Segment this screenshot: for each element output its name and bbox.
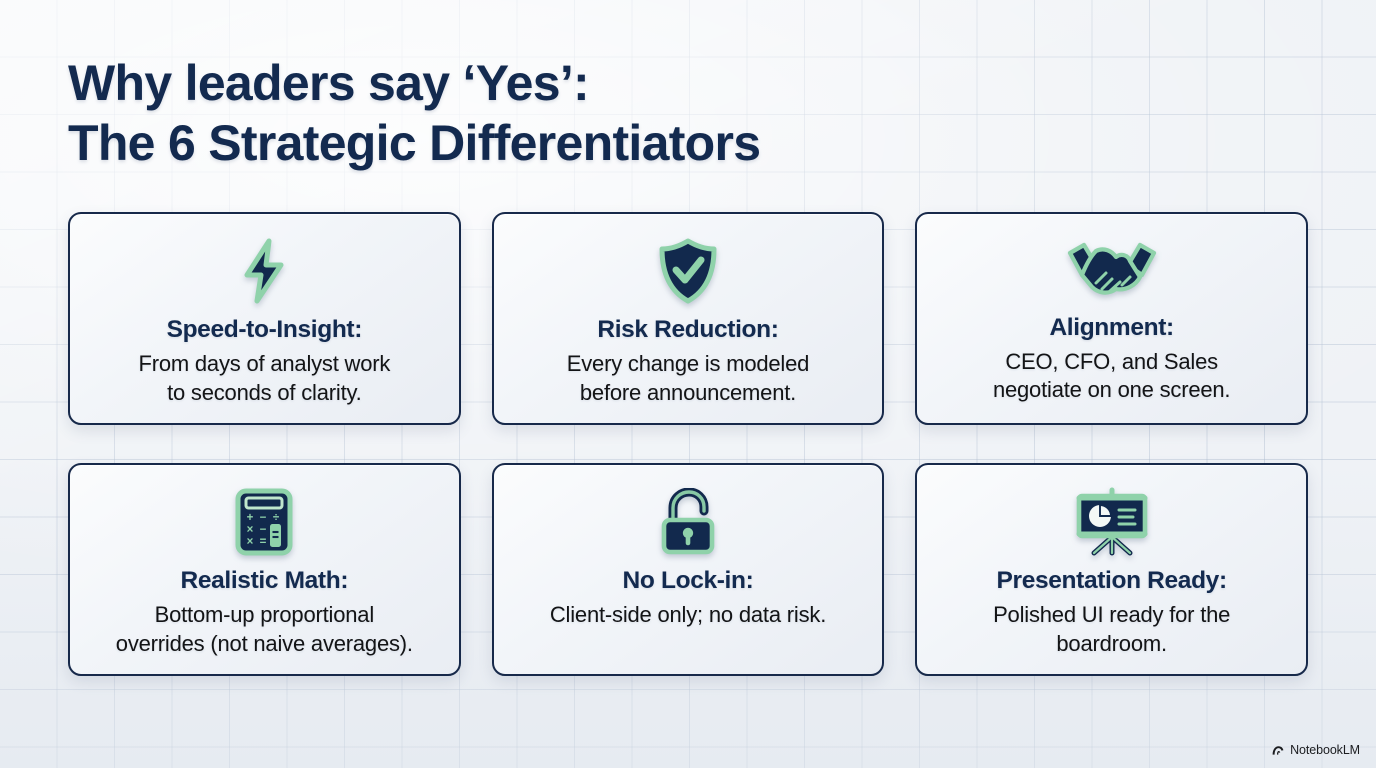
differentiator-card-grid: Speed-to-Insight: From days of analyst w… — [68, 212, 1308, 676]
card-risk-reduction[interactable]: Risk Reduction: Every change is modeled … — [492, 212, 885, 425]
notebooklm-logo-icon — [1271, 744, 1285, 757]
calculator-icon: +−÷ ×− ×= — [235, 489, 293, 555]
watermark-label: NotebookLM — [1290, 743, 1360, 757]
card-heading: Risk Reduction: — [597, 316, 778, 345]
lightning-bolt-icon — [236, 238, 292, 304]
card-body: Every change is modeled before announcem… — [567, 350, 809, 407]
card-body: Polished UI ready for the boardroom. — [993, 601, 1230, 658]
card-presentation-ready[interactable]: Presentation Ready: Polished UI ready fo… — [915, 463, 1308, 676]
svg-text:+: + — [247, 512, 254, 524]
card-heading: Realistic Math: — [181, 567, 349, 596]
open-padlock-icon — [657, 489, 719, 555]
svg-text:−: − — [260, 512, 267, 524]
svg-text:×: × — [247, 536, 254, 548]
card-heading: No Lock-in: — [623, 567, 754, 596]
handshake-icon — [1066, 238, 1158, 302]
page-title: Why leaders say ‘Yes’: The 6 Strategic D… — [68, 54, 1308, 173]
card-heading: Speed-to-Insight: — [167, 316, 362, 345]
notebooklm-watermark: NotebookLM — [1271, 743, 1360, 757]
svg-text:÷: ÷ — [273, 512, 280, 524]
card-body: Client-side only; no data risk. — [550, 601, 826, 630]
card-heading: Presentation Ready: — [997, 567, 1227, 596]
card-speed-to-insight[interactable]: Speed-to-Insight: From days of analyst w… — [68, 212, 461, 425]
svg-text:=: = — [260, 536, 267, 548]
card-no-lock-in[interactable]: No Lock-in: Client-side only; no data ri… — [492, 463, 885, 676]
presentation-chart-icon — [1072, 489, 1152, 555]
slide-canvas: Why leaders say ‘Yes’: The 6 Strategic D… — [0, 0, 1376, 768]
card-body: CEO, CFO, and Sales negotiate on one scr… — [993, 348, 1230, 405]
shield-check-icon — [656, 238, 720, 304]
card-body: Bottom-up proportional overrides (not na… — [116, 601, 413, 658]
card-heading: Alignment: — [1049, 314, 1173, 343]
card-alignment[interactable]: Alignment: CEO, CFO, and Sales negotiate… — [915, 212, 1308, 425]
card-realistic-math[interactable]: +−÷ ×− ×= Realistic Math: Bottom-up prop… — [68, 463, 461, 676]
svg-text:×: × — [247, 524, 254, 536]
svg-text:−: − — [260, 524, 267, 536]
card-body: From days of analyst work to seconds of … — [138, 350, 390, 407]
